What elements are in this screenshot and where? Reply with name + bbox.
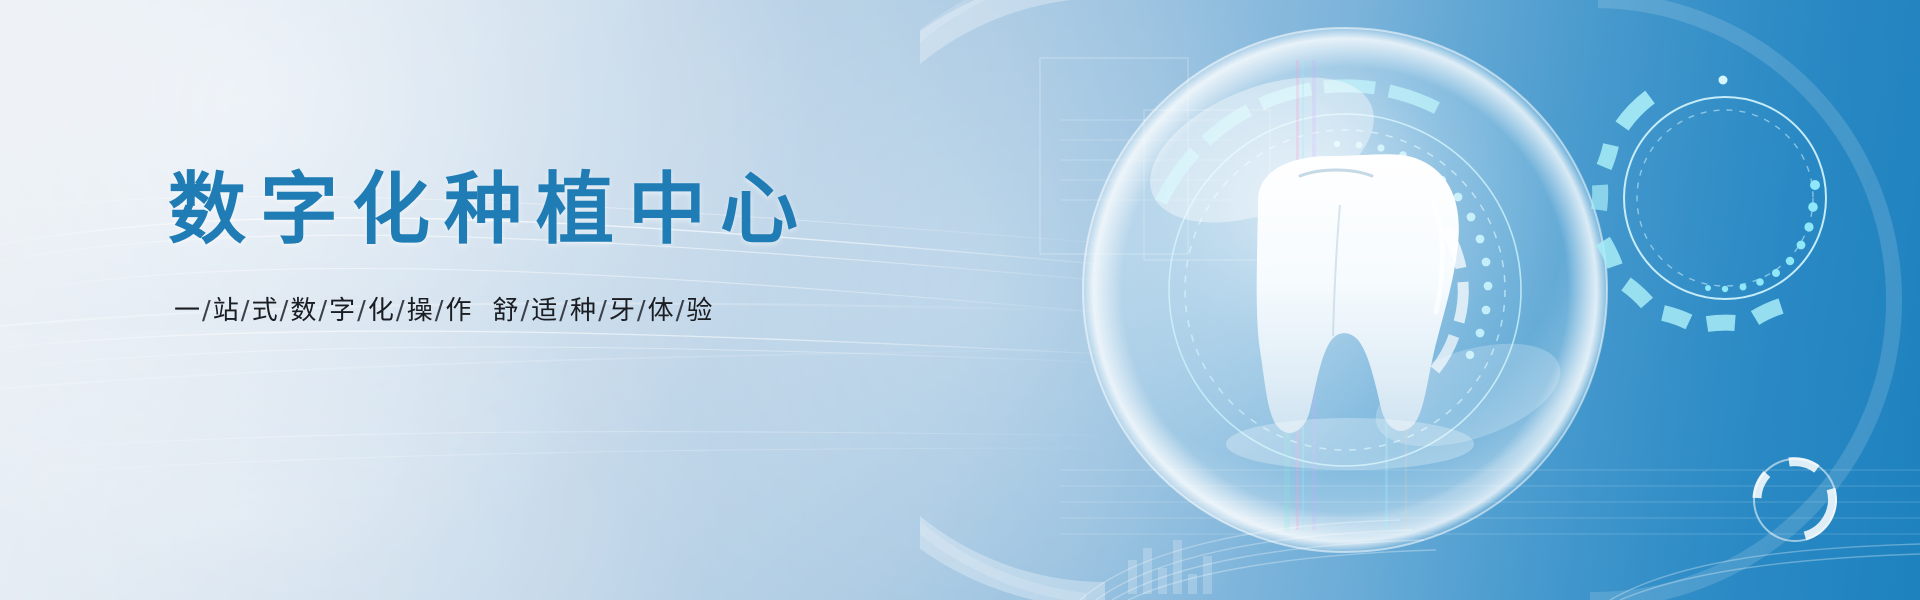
mini-bar-chart: [1128, 540, 1212, 594]
subtitle-char: 数: [290, 296, 317, 326]
orb-highlight: [1129, 48, 1394, 251]
scan-arc-segments: [1435, 228, 1463, 370]
chromatic-glitch-bars: [1284, 60, 1407, 530]
subtitle-char: 舒: [492, 296, 519, 326]
glass-orb: [1083, 28, 1607, 552]
glow-bottom-left: [0, 330, 780, 600]
subtitle-char: 验: [686, 296, 713, 326]
tech-graphics-panel: 0.62947852 0.81468456 0.71843 KEY GROWTH…: [920, 0, 1920, 600]
subtitle-separator: /: [201, 296, 213, 326]
background-arcs: [920, 0, 1894, 600]
subtitle-char: 作: [445, 296, 472, 326]
headline-block: 数字化种植中心 一/站/式/数/字/化/操/作舒/适/种/牙/体/验: [168, 170, 888, 327]
dotted-ring: [1334, 141, 1493, 359]
curve-fan: [1080, 520, 1920, 600]
subtitle-separator: /: [317, 296, 329, 326]
subtitle-char: 一: [174, 296, 201, 326]
quarter-gauge-ring: [1599, 76, 1826, 325]
subtitle-char: 操: [407, 296, 434, 326]
hero-banner: 数字化种植中心 一/站/式/数/字/化/操/作舒/适/种/牙/体/验: [0, 0, 1920, 600]
subtitle-separator: /: [520, 296, 532, 326]
subtitle-separator: /: [240, 296, 252, 326]
subtitle-char: 式: [252, 296, 279, 326]
subtitle-char: 站: [213, 296, 240, 326]
hud-illustration: [920, 0, 1920, 600]
orb-highlight-2: [1363, 323, 1573, 466]
subtitle-char: 种: [570, 296, 597, 326]
small-gauge-ring: [1754, 459, 1836, 541]
subtitle-char: 牙: [609, 296, 636, 326]
page-title: 数字化种植中心: [168, 170, 888, 252]
wireframe-rectangles: [1040, 58, 1270, 260]
segmented-arc-ring: [1161, 86, 1521, 466]
tooth-graphic: [1257, 154, 1459, 433]
subtitle-separator: /: [636, 296, 648, 326]
subtitle-char: 字: [329, 296, 356, 326]
subtitle-separator: /: [558, 296, 570, 326]
subtitle-separator: /: [395, 296, 407, 326]
right-vignette: [1360, 0, 1920, 600]
subtitle-separator: /: [356, 296, 368, 326]
subtitle-separator: /: [675, 296, 687, 326]
subtitle-char: 适: [531, 296, 558, 326]
subtitle-separator: /: [434, 296, 446, 326]
subtitle-separator: /: [279, 296, 291, 326]
data-grid-lines: [1060, 470, 1920, 534]
subtitle-separator: /: [597, 296, 609, 326]
tooth-shadow: [1226, 418, 1474, 470]
subtitle-char: 化: [368, 296, 395, 326]
page-subtitle: 一/站/式/数/字/化/操/作舒/适/种/牙/体/验: [174, 290, 888, 327]
subtitle-char: 体: [648, 296, 675, 326]
